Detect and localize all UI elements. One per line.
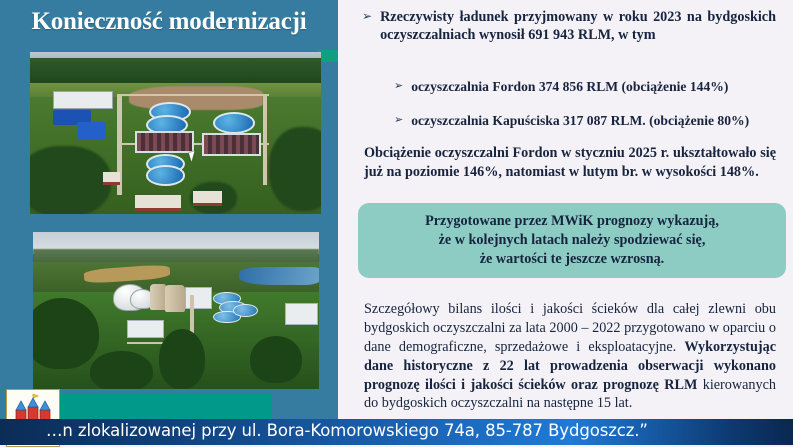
chevron-bullet-icon: ➢ <box>394 78 403 93</box>
photo-road <box>263 94 268 185</box>
photo-trees <box>269 127 321 211</box>
left-image-panel: Konieczność modernizacji <box>0 0 338 424</box>
photo-office-building <box>127 320 163 338</box>
photo-trees <box>250 336 301 383</box>
bullet-item-3-label: oczyszczalnia Kapuściska 317 087 RLM. (o… <box>411 112 776 130</box>
photo-silo <box>165 285 185 312</box>
aerial-photo-kapusciska <box>33 232 319 389</box>
bullet-item-3: ➢ oczyszczalnia Kapuściska 317 087 RLM. … <box>394 112 776 130</box>
photo-trees <box>30 146 111 214</box>
photo-river <box>239 267 319 286</box>
photo-treeline <box>30 58 321 84</box>
photo-aeration-basin <box>135 131 194 153</box>
bullet-item-2: ➢ oczyszczalnia Fordon 374 856 RLM (obci… <box>394 78 776 96</box>
photo-clarifier <box>213 112 255 134</box>
bullet-item-2-label: oczyszczalnia Fordon 374 856 RLM (obciąż… <box>411 78 776 96</box>
bullet-item-1-label: Rzeczywisty ładunek przyjmowany w roku 2… <box>380 8 776 45</box>
photo-aeration-basin <box>202 133 261 156</box>
photo-house <box>193 191 222 205</box>
photo-blue-tank <box>77 122 106 140</box>
bullet-item-1: ➢ Rzeczywisty ładunek przyjmowany w roku… <box>362 8 776 45</box>
photo-bare-earth <box>129 86 263 110</box>
forecast-callout-box: Przygotowane przez MWiK prognozy wykazuj… <box>358 203 786 278</box>
chevron-bullet-icon: ➢ <box>394 112 403 127</box>
paragraph-balance-forecast: Szczegółowy bilans ilości i jakości ście… <box>364 300 776 413</box>
photo-admin-building <box>53 91 113 109</box>
caption-text: …n zlokalizowanej przy ul. Bora-Komorows… <box>46 421 648 440</box>
aerial-photo-fordon <box>30 52 321 214</box>
photo-building <box>285 303 318 325</box>
photo-trees <box>90 351 153 389</box>
accent-green-bar <box>58 393 272 420</box>
photo-road <box>117 94 268 96</box>
paragraph-fordon-load: Obciążenie oczyszczalni Fordon w styczni… <box>364 144 776 181</box>
title-accent-bar <box>318 50 340 62</box>
forecast-callout-text: Przygotowane przez MWiK prognozy wykazuj… <box>425 212 719 269</box>
photo-trees <box>33 298 99 369</box>
photo-clarifier <box>146 165 185 185</box>
content-column: ➢ Rzeczywisty ładunek przyjmowany w roku… <box>338 0 793 445</box>
photo-building <box>185 287 213 309</box>
photo-house <box>103 172 120 185</box>
bottom-caption-bar: …n zlokalizowanej przy ul. Bora-Komorows… <box>0 419 793 445</box>
photo-house <box>135 195 182 211</box>
chevron-bullet-icon: ➢ <box>362 8 372 24</box>
photo-trees <box>159 329 205 389</box>
page-title: Konieczność modernizacji <box>6 8 332 36</box>
